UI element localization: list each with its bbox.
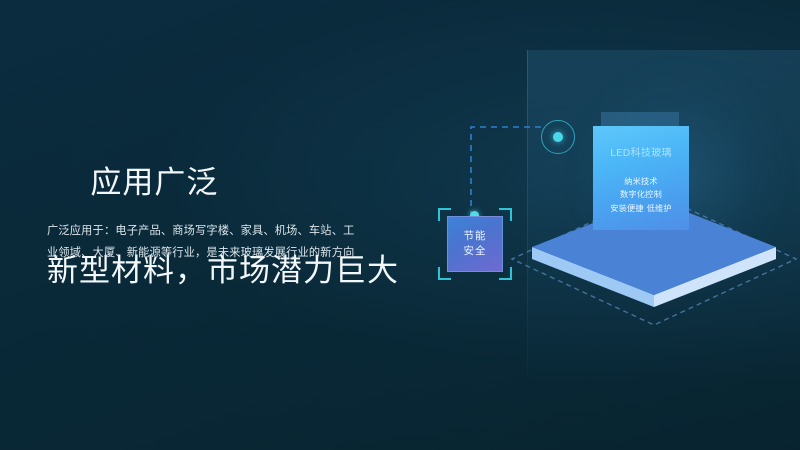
led-panel-title: LED科技玻璃 — [610, 144, 672, 159]
led-glass-panel[interactable]: LED科技玻璃 纳米技术 数字化控制 安装便捷 低维护 — [593, 126, 689, 230]
body-paragraph: 广泛应用于：电子产品、商场写字楼、家具、机场、车站、工业领域、大厦、新能源等行业… — [47, 220, 365, 265]
led-feature-1: 纳米技术 — [624, 175, 658, 188]
badge-label-line-1: 节能 — [464, 229, 487, 244]
led-feature-3: 安装便捷 低维护 — [610, 202, 672, 215]
badge-label-line-2: 安全 — [464, 244, 487, 259]
target-dot-center-icon — [553, 132, 563, 142]
led-feature-2: 数字化控制 — [620, 188, 662, 201]
page-title-line-1: 应用广泛 — [90, 165, 218, 201]
feature-badge-energy-safety[interactable]: 节能 安全 — [447, 216, 503, 272]
slide-canvas: 应用广泛 新型材料，市场潜力巨大 广泛应用于：电子产品、商场写字楼、家具、机场、… — [0, 0, 800, 450]
